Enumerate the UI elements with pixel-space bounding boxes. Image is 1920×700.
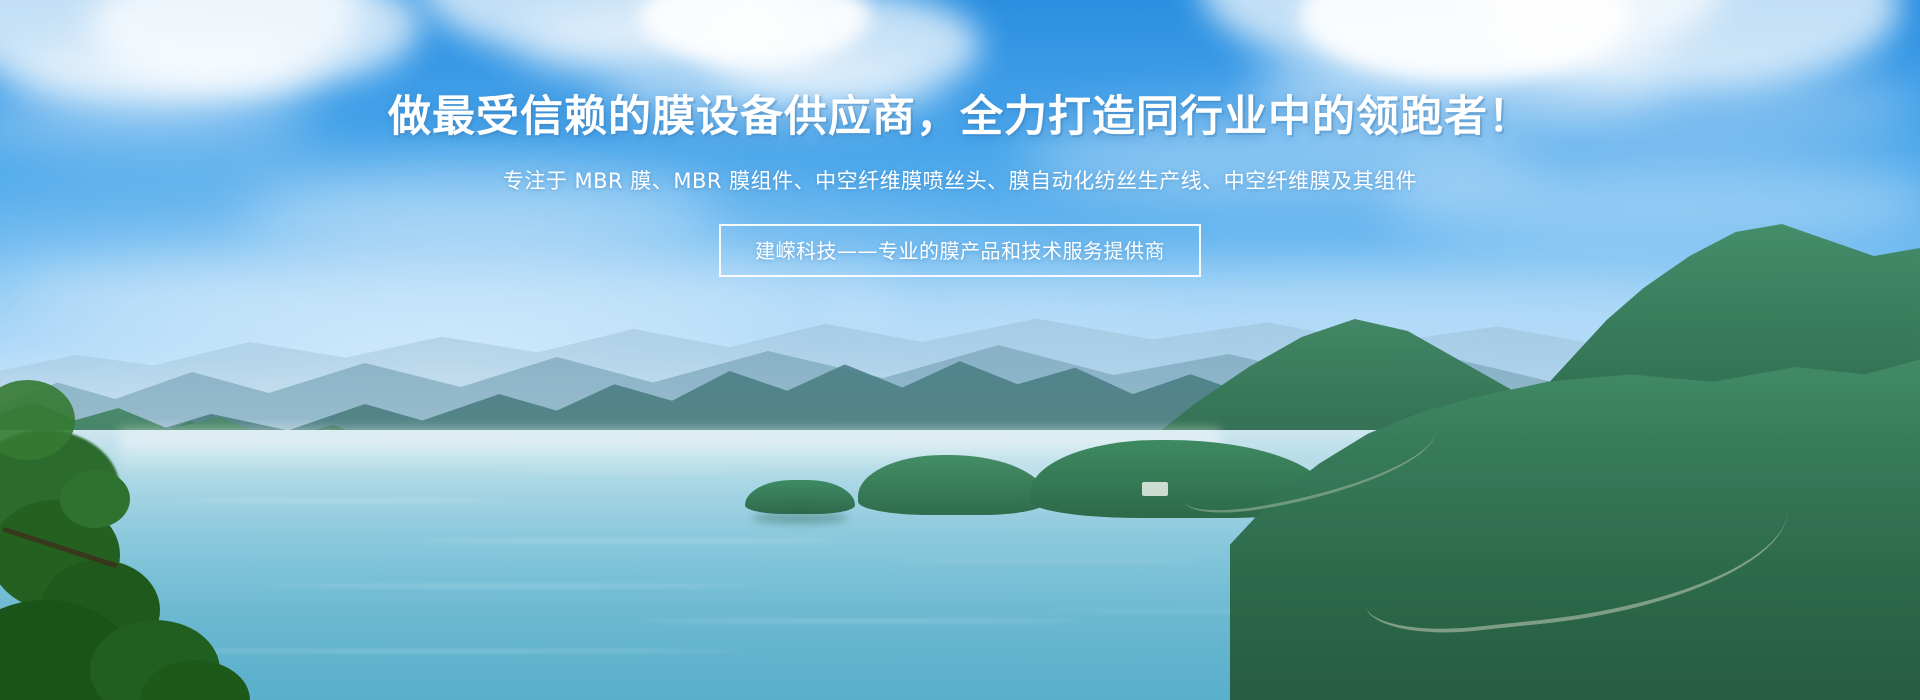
hero-headline: 做最受信赖的膜设备供应商，全力打造同行业中的领跑者！: [0, 96, 1920, 139]
shoreline-building: [1142, 482, 1168, 496]
hero-tagline-box: 建嵘科技——专业的膜产品和技术服务提供商: [719, 224, 1201, 277]
hero-banner: 做最受信赖的膜设备供应商，全力打造同行业中的领跑者！ 专注于 MBR 膜、MBR…: [0, 0, 1920, 700]
hero-tagline-wrap: 建嵘科技——专业的膜产品和技术服务提供商: [0, 224, 1920, 277]
hero-copy: 做最受信赖的膜设备供应商，全力打造同行业中的领跑者！ 专注于 MBR 膜、MBR…: [0, 96, 1920, 277]
island-small-shadow: [752, 512, 848, 524]
hero-subheadline: 专注于 MBR 膜、MBR 膜组件、中空纤维膜喷丝头、膜自动化纺丝生产线、中空纤…: [0, 165, 1920, 195]
